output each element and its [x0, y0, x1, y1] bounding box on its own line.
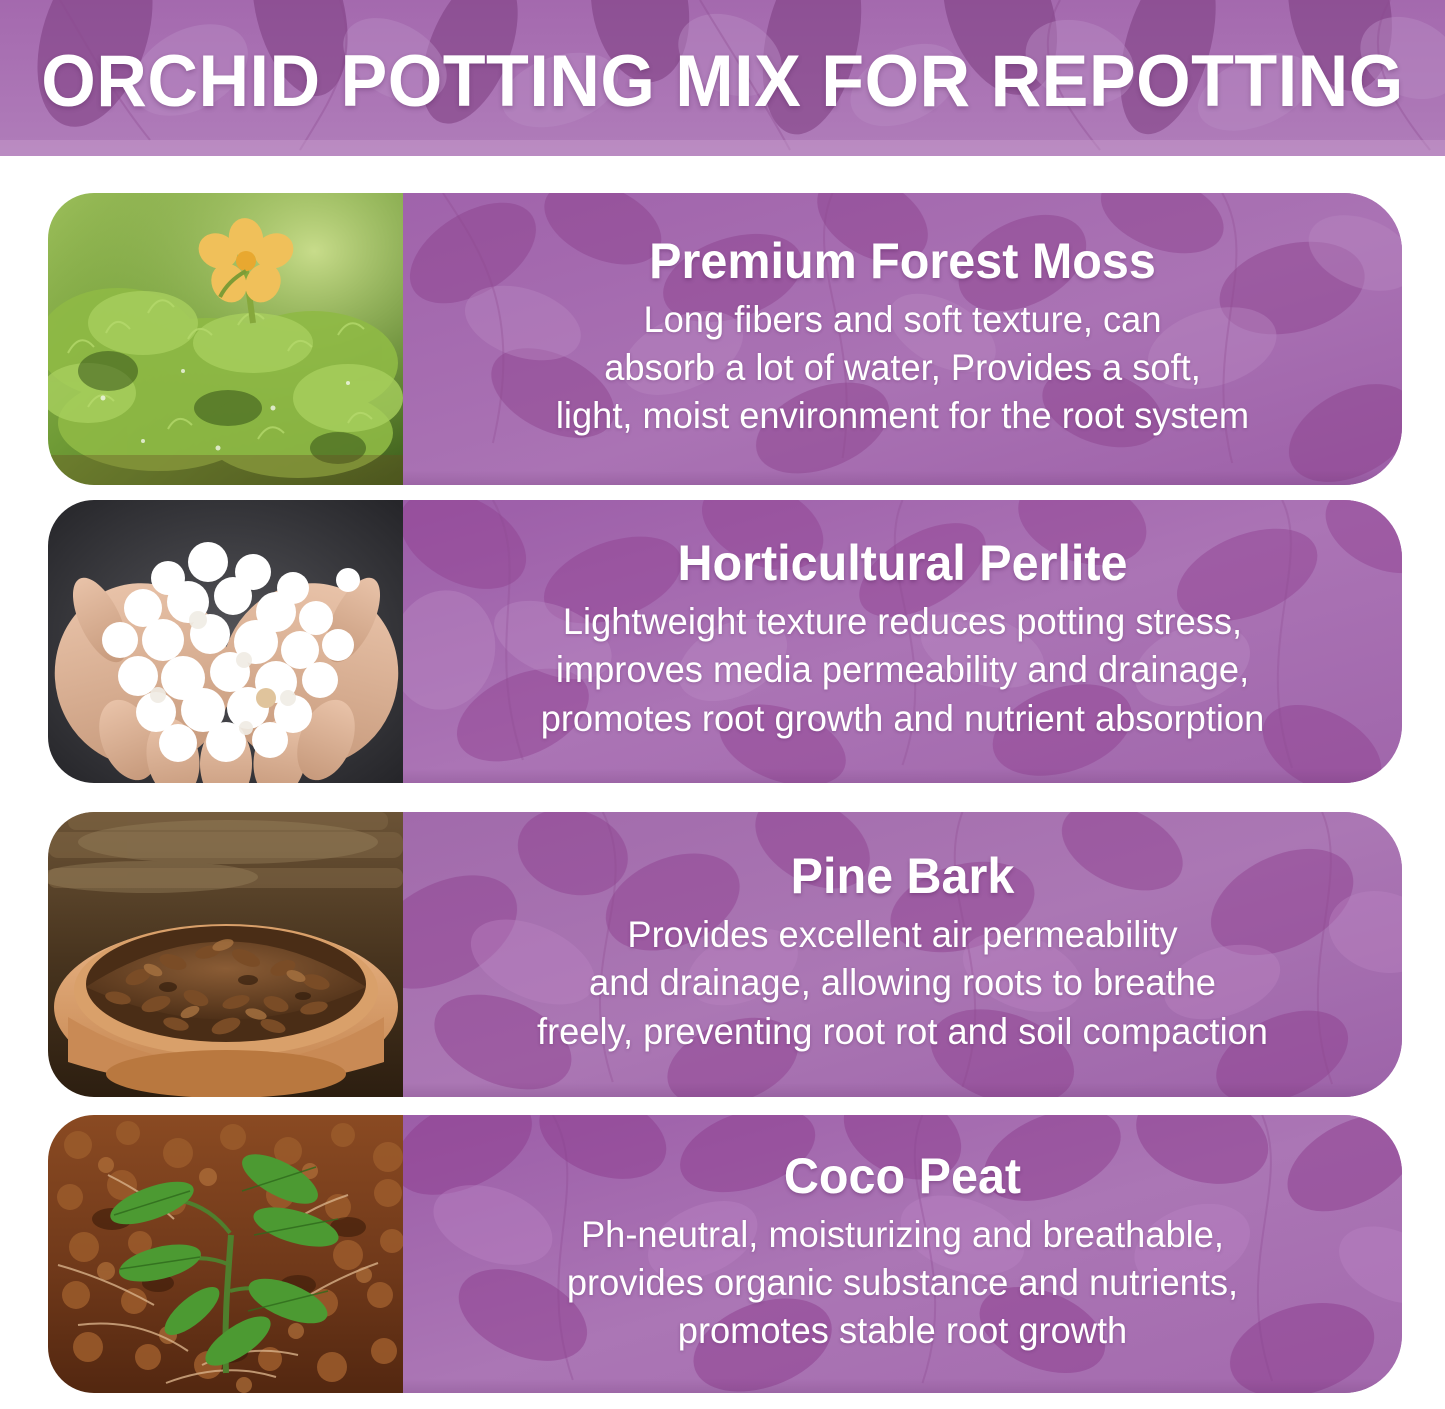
card-title: Premium Forest Moss [447, 234, 1358, 288]
description-line: absorb a lot of water, Provides a soft, [442, 344, 1362, 392]
card-title: Horticultural Perlite [447, 536, 1358, 590]
horticultural-perlite-photo [48, 500, 403, 783]
infographic-page: ORCHID POTTING MIX FOR REPOTTING [0, 0, 1445, 1409]
forest-moss-photo [48, 193, 403, 485]
card-description: Long fibers and soft texture, can absorb… [442, 296, 1362, 440]
card-description: Ph-neutral, moisturizing and breathable,… [442, 1211, 1362, 1355]
card-title: Coco Peat [447, 1149, 1358, 1203]
feature-card-coco-peat: Coco Peat Ph-neutral, moisturizing and b… [403, 1115, 1402, 1393]
header-banner: ORCHID POTTING MIX FOR REPOTTING [0, 0, 1445, 156]
description-line: freely, preventing root rot and soil com… [442, 1008, 1362, 1056]
card-description: Lightweight texture reduces potting stre… [442, 598, 1362, 742]
description-line: Lightweight texture reduces potting stre… [442, 598, 1362, 646]
pine-bark-photo [48, 812, 403, 1097]
description-line: improves media permeability and drainage… [442, 646, 1362, 694]
feature-row-moss: Premium Forest Moss Long fibers and soft… [0, 193, 1445, 485]
feature-row-coco-peat: Coco Peat Ph-neutral, moisturizing and b… [0, 1115, 1445, 1393]
description-line: light, moist environment for the root sy… [442, 392, 1362, 440]
description-line: Ph-neutral, moisturizing and breathable, [442, 1211, 1362, 1259]
feature-card-pine-bark: Pine Bark Provides excellent air permeab… [403, 812, 1402, 1097]
description-line: Provides excellent air permeability [442, 911, 1362, 959]
description-line: provides organic substance and nutrients… [442, 1259, 1362, 1307]
description-line: promotes root growth and nutrient absorp… [442, 695, 1362, 743]
coco-peat-photo [48, 1115, 403, 1393]
description-line: promotes stable root growth [442, 1307, 1362, 1355]
page-title: ORCHID POTTING MIX FOR REPOTTING [29, 0, 1416, 156]
feature-card-moss: Premium Forest Moss Long fibers and soft… [403, 193, 1402, 485]
description-line: Long fibers and soft texture, can [442, 296, 1362, 344]
card-title: Pine Bark [447, 849, 1358, 903]
description-line: and drainage, allowing roots to breathe [442, 959, 1362, 1007]
feature-row-pine-bark: Pine Bark Provides excellent air permeab… [0, 812, 1445, 1097]
feature-row-perlite: Horticultural Perlite Lightweight textur… [0, 500, 1445, 783]
feature-card-perlite: Horticultural Perlite Lightweight textur… [403, 500, 1402, 783]
card-description: Provides excellent air permeability and … [442, 911, 1362, 1055]
